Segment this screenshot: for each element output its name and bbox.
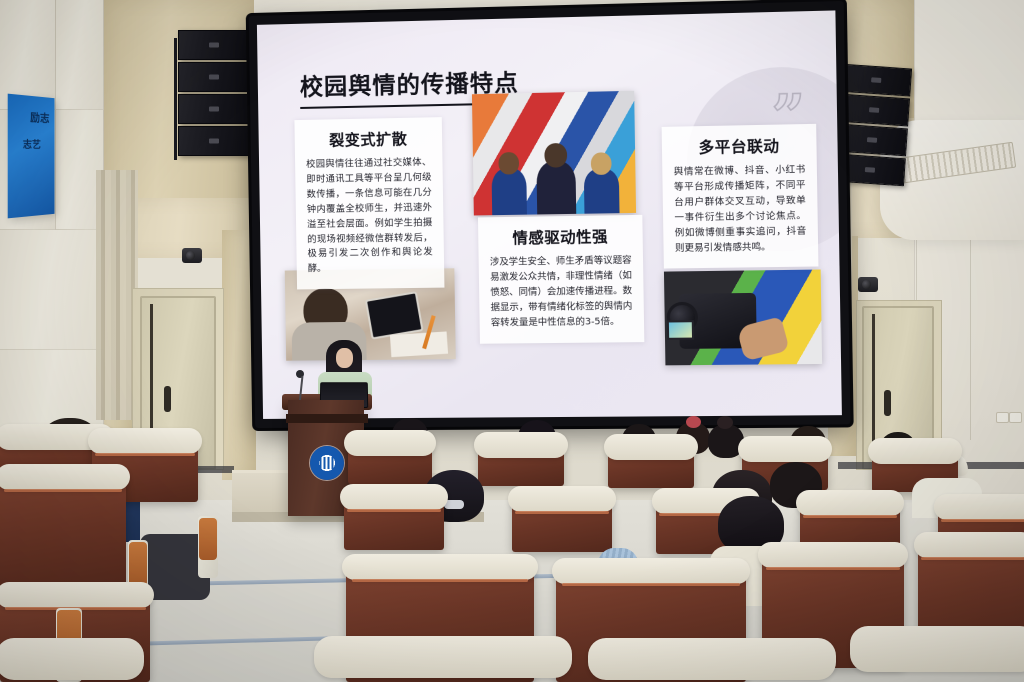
speaker-logo xyxy=(209,43,219,48)
speaker-module xyxy=(178,62,250,92)
seat-headrest xyxy=(0,464,130,490)
seat-headrest xyxy=(914,532,1024,558)
hair-bun xyxy=(686,416,701,428)
wall-poster: 励志 志艺 xyxy=(8,94,55,219)
seat-headrest xyxy=(552,558,750,584)
seat-headrest xyxy=(588,638,836,680)
seat-headrest xyxy=(796,490,904,516)
speaker-module xyxy=(178,94,250,124)
notebook-page xyxy=(390,332,448,358)
seat-headrest xyxy=(88,428,202,454)
seat[interactable] xyxy=(344,498,444,550)
wall-tile xyxy=(56,0,104,110)
slide-photo-videographer xyxy=(664,270,822,366)
seat-headrest xyxy=(758,542,908,568)
seat-headrest xyxy=(342,554,538,580)
tablet-device xyxy=(365,291,424,339)
speaker-module xyxy=(178,30,250,60)
seat-trim xyxy=(803,515,897,518)
seat[interactable] xyxy=(318,650,568,682)
seat-headrest xyxy=(0,638,144,680)
student-silhouette xyxy=(584,168,620,213)
speaker-logo xyxy=(209,139,219,144)
seat-headrest xyxy=(868,438,962,464)
wall-poster-label-2: 志艺 xyxy=(23,140,41,151)
slide-card-emotion: 情感驱动性强 涉及学生安全、师生矛盾等议题容易激发公众共情，非理性情绪（如愤怒、… xyxy=(478,215,644,343)
seat[interactable] xyxy=(478,446,564,486)
seat-headrest xyxy=(850,626,1024,672)
student-silhouette xyxy=(536,161,576,214)
seat-trim xyxy=(766,567,899,570)
speaker-array-left xyxy=(178,30,250,158)
seat-trim xyxy=(921,557,1024,560)
lecture-hall-photo: 励志 志艺 ” 校园舆情的传播特点 xyxy=(0,0,1024,682)
seat-trim xyxy=(347,509,441,512)
seat-back xyxy=(0,478,126,596)
wall-camera-left xyxy=(182,248,202,263)
wall-wood-panel xyxy=(222,230,256,480)
card-body: 舆情常在微博、抖音、小红书等平台形成传播矩阵，不同平台用户群体交叉互动，导致单一… xyxy=(674,163,807,257)
seat-trim xyxy=(562,583,741,586)
slide-photo-flags xyxy=(472,91,636,216)
presenter-face xyxy=(336,348,353,368)
speaker-module xyxy=(840,64,912,97)
head xyxy=(591,152,612,175)
card-heading: 裂变式扩散 xyxy=(306,127,431,151)
armrest-pad xyxy=(129,542,147,586)
wall-tile xyxy=(0,230,104,350)
seat-headrest xyxy=(0,582,154,608)
speaker-module xyxy=(836,124,908,157)
seat[interactable] xyxy=(0,652,140,682)
camera-monitor xyxy=(667,320,694,340)
speaker-logo xyxy=(865,167,875,173)
speaker-rigging-rod xyxy=(174,38,177,160)
slide-card-multiplatform: 多平台联动 舆情常在微博、抖音、小红书等平台形成传播矩阵，不同平台用户群体交叉互… xyxy=(662,124,819,269)
seat-trim xyxy=(515,511,609,514)
seat[interactable] xyxy=(0,478,126,596)
university-emblem xyxy=(310,446,344,480)
armrest-pad xyxy=(199,518,217,560)
seat-headrest xyxy=(934,494,1024,520)
podium-shelf xyxy=(286,414,368,423)
seat-headrest xyxy=(474,432,568,458)
slide-card-fission: 裂变式扩散 校园舆情往往通过社交媒体、即时通讯工具等平台呈几何级数传播，一条信息… xyxy=(294,117,444,290)
door-handle-left[interactable] xyxy=(164,386,171,412)
seat-trim xyxy=(95,453,195,456)
seat-headrest xyxy=(604,434,698,460)
seat[interactable] xyxy=(348,444,432,484)
seat-headrest xyxy=(344,430,436,456)
seat[interactable] xyxy=(608,448,694,488)
speaker-logo xyxy=(209,75,219,80)
door-handle-right[interactable] xyxy=(884,390,891,416)
speaker-logo xyxy=(871,77,881,83)
card-heading: 情感驱动性强 xyxy=(489,225,631,248)
seat-trim xyxy=(352,579,529,582)
seat-headrest xyxy=(340,484,448,510)
head xyxy=(498,152,519,175)
seat[interactable] xyxy=(854,640,1024,682)
speaker-module xyxy=(178,126,250,156)
seat[interactable] xyxy=(592,652,832,682)
speaker-logo xyxy=(869,107,879,113)
wall-poster-label: 励志 xyxy=(30,112,49,125)
wall-socket[interactable] xyxy=(1009,412,1022,423)
speaker-module xyxy=(838,94,910,127)
head xyxy=(544,143,567,168)
card-body: 校园舆情往往通过社交媒体、即时通讯工具等平台呈几何级数传播，一条信息可能在几分钟… xyxy=(306,156,433,278)
student-silhouette xyxy=(491,168,527,215)
seat-headrest xyxy=(738,436,832,462)
speaker-logo xyxy=(867,137,877,143)
seat[interactable] xyxy=(512,500,612,552)
hair-bun xyxy=(717,416,733,429)
seat-armrest[interactable] xyxy=(198,516,218,578)
seat-trim xyxy=(4,489,122,492)
card-body: 涉及学生安全、师生矛盾等议题容易激发公众共情，非理性情绪（如愤怒、同情）会加速传… xyxy=(490,254,633,331)
speaker-logo xyxy=(209,107,219,112)
seat-headrest xyxy=(314,636,572,678)
wall-socket[interactable] xyxy=(996,412,1009,423)
seat-headrest xyxy=(508,486,616,512)
card-heading: 多平台联动 xyxy=(673,134,805,158)
seat-trim xyxy=(941,519,1024,522)
wall-camera-right xyxy=(858,277,878,292)
